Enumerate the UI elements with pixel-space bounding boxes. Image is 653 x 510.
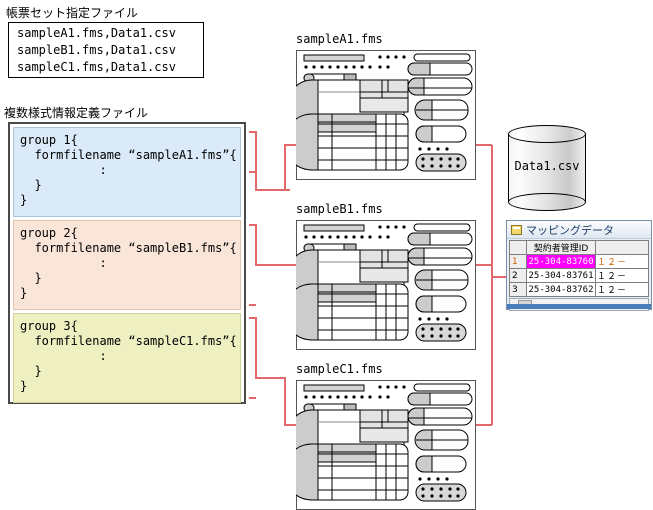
group1-line: group 1{ bbox=[20, 133, 240, 148]
header-extra[interactable] bbox=[596, 241, 649, 255]
table-row: 3 25-304-83762 １２－ bbox=[510, 283, 649, 297]
cylinder-bottom-clip bbox=[508, 185, 586, 211]
group1-line: : bbox=[20, 163, 240, 178]
table-header-row: 契約者管理ID bbox=[510, 241, 649, 255]
group3-line: formfilename “sampleC1.fms”{ bbox=[20, 334, 240, 349]
window-status-bar bbox=[507, 304, 651, 309]
group2-line: } bbox=[20, 271, 240, 286]
group2-line: formfilename “sampleB1.fms”{ bbox=[20, 241, 240, 256]
group2-line: : bbox=[20, 256, 240, 271]
cell-extra[interactable]: １２－ bbox=[596, 255, 649, 269]
form-preview-sampleC1 bbox=[296, 380, 476, 510]
mapping-window-title: マッピングデータ bbox=[526, 222, 614, 238]
mapping-data-grid[interactable]: 契約者管理ID 1 25-304-83760 １２－ 2 25-304-8376… bbox=[509, 240, 649, 297]
connector-group1 bbox=[249, 132, 290, 190]
setspec-file-box: sampleA1.fms,Data1.csv sampleB1.fms,Data… bbox=[8, 22, 204, 78]
group3-line: } bbox=[20, 379, 240, 394]
cell-contract-id[interactable]: 25-304-83762 bbox=[527, 283, 596, 297]
table-row: 2 25-304-83761 １２－ bbox=[510, 269, 649, 283]
group3-line: group 3{ bbox=[20, 319, 240, 334]
datastore-label: Data1.csv bbox=[508, 159, 586, 173]
row-number[interactable]: 3 bbox=[510, 283, 527, 297]
group1-line: formfilename “sampleA1.fms”{ bbox=[20, 148, 240, 163]
header-contract-id[interactable]: 契約者管理ID bbox=[527, 241, 596, 255]
form-title-sampleA1: sampleA1.fms bbox=[296, 32, 383, 46]
group1-line: } bbox=[20, 178, 240, 193]
connector-group2 bbox=[249, 225, 296, 265]
form-preview-sampleA1 bbox=[296, 50, 476, 180]
form-title-sampleB1: sampleB1.fms bbox=[296, 202, 383, 216]
group3-line: } bbox=[20, 364, 240, 379]
connector-group3 bbox=[249, 318, 296, 425]
cylinder-top bbox=[508, 125, 586, 143]
cell-contract-id[interactable]: 25-304-83761 bbox=[527, 269, 596, 283]
setspec-file-title: 帳票セット指定ファイル bbox=[6, 4, 138, 21]
group2-line: } bbox=[20, 286, 240, 301]
form-preview-sampleB1 bbox=[296, 220, 476, 350]
cell-contract-id[interactable]: 25-304-83760 bbox=[527, 255, 596, 269]
cell-extra[interactable]: １２－ bbox=[596, 269, 649, 283]
cell-extra[interactable]: １２－ bbox=[596, 283, 649, 297]
definition-file-box: group 1{ formfilename “sampleA1.fms”{ : … bbox=[8, 122, 246, 404]
mapping-window-titlebar: マッピングデータ bbox=[507, 221, 651, 239]
group2-line: group 2{ bbox=[20, 226, 240, 241]
form-title-sampleC1: sampleC1.fms bbox=[296, 362, 383, 376]
definition-group-3: group 3{ formfilename “sampleC1.fms”{ : … bbox=[13, 313, 241, 403]
row-number[interactable]: 2 bbox=[510, 269, 527, 283]
header-rownum[interactable] bbox=[510, 241, 527, 255]
setspec-lines: sampleA1.fms,Data1.csv sampleB1.fms,Data… bbox=[9, 23, 203, 76]
table-row: 1 25-304-83760 １２－ bbox=[510, 255, 649, 269]
mapping-data-window[interactable]: マッピングデータ 契約者管理ID 1 25-304-83760 １２－ 2 25… bbox=[506, 220, 652, 310]
group1-line: } bbox=[20, 193, 240, 208]
definition-group-1: group 1{ formfilename “sampleA1.fms”{ : … bbox=[13, 127, 241, 217]
setspec-line: sampleB1.fms,Data1.csv bbox=[9, 42, 203, 59]
table-window-icon bbox=[511, 225, 522, 235]
database-cylinder-icon: Data1.csv bbox=[508, 125, 586, 211]
setspec-line: sampleC1.fms,Data1.csv bbox=[9, 59, 203, 76]
setspec-line: sampleA1.fms,Data1.csv bbox=[9, 25, 203, 42]
definition-group-2: group 2{ formfilename “sampleB1.fms”{ : … bbox=[13, 220, 241, 310]
definition-file-title: 複数様式情報定義ファイル bbox=[4, 104, 148, 121]
row-number[interactable]: 1 bbox=[510, 255, 527, 269]
connector-group1-to-formA bbox=[285, 145, 296, 190]
group3-line: : bbox=[20, 349, 240, 364]
